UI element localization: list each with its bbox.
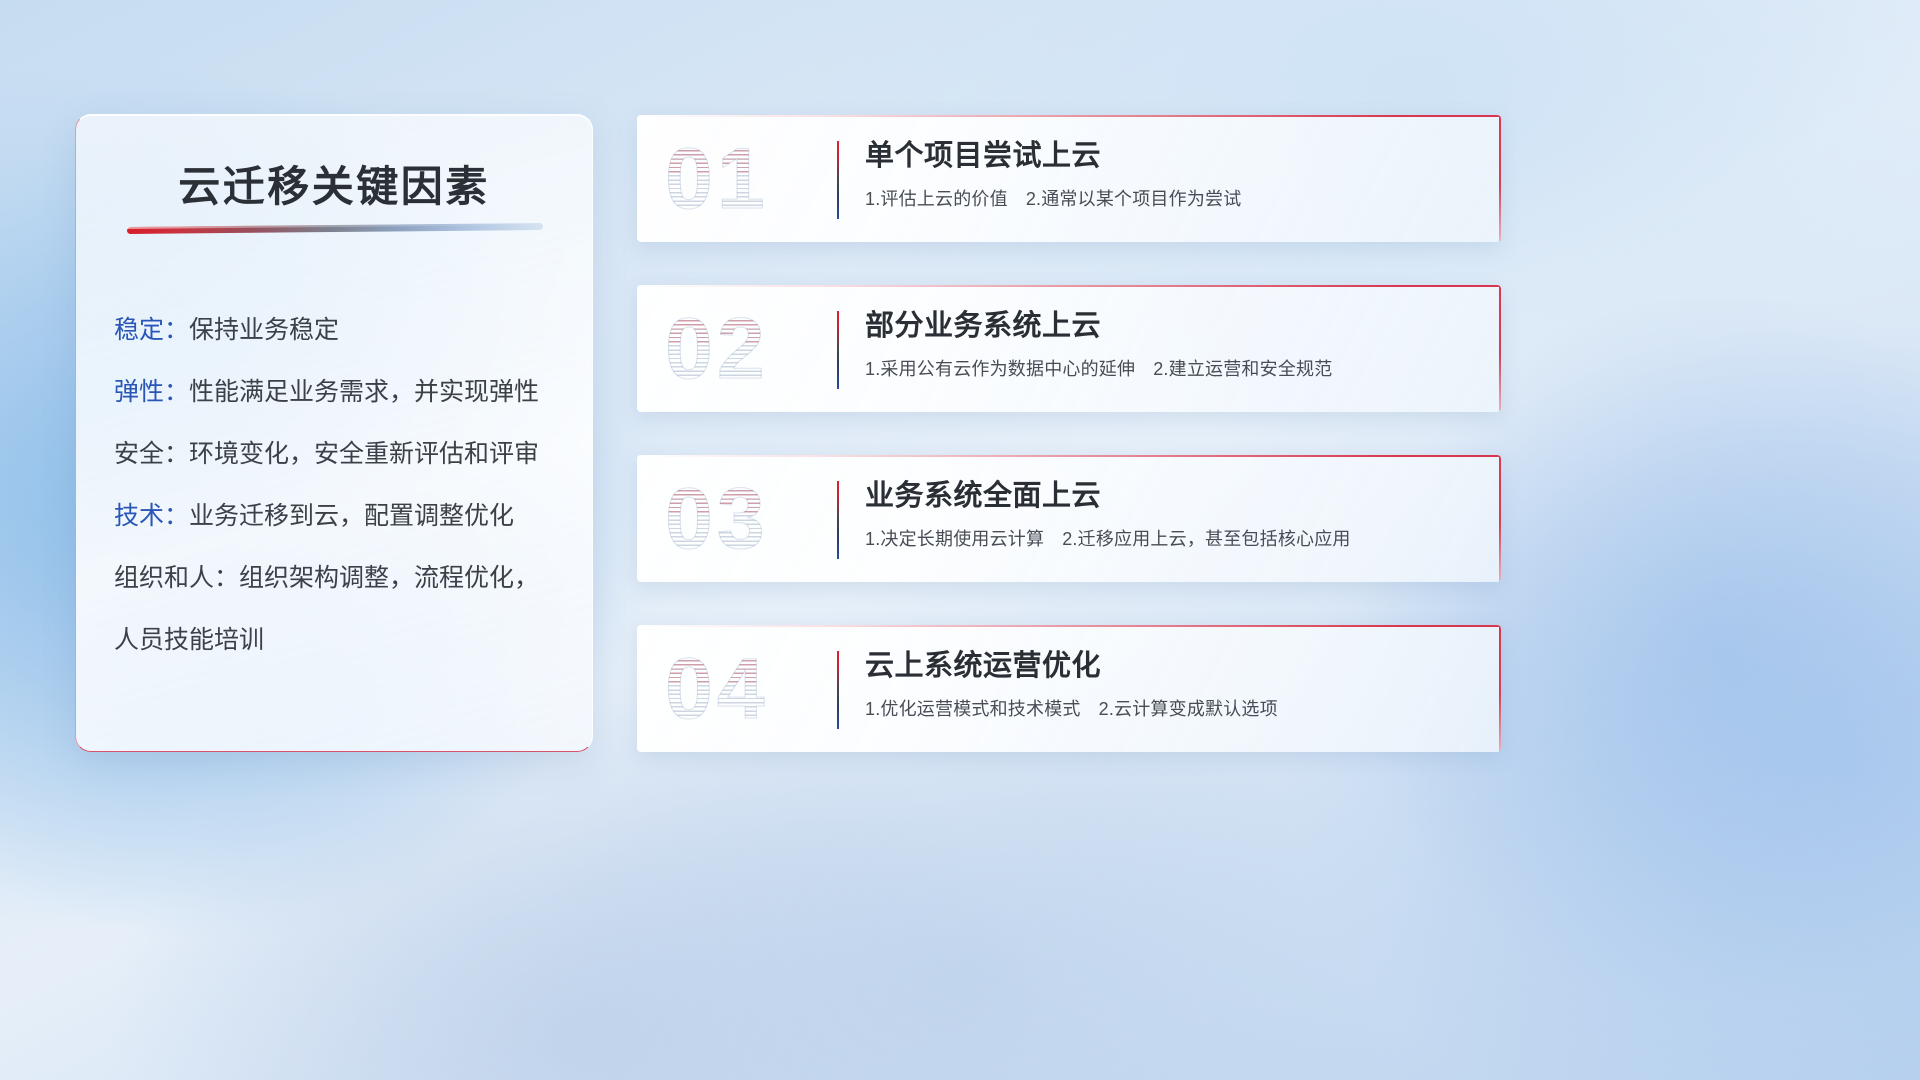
card-top-accent-line [637, 455, 1501, 457]
step-divider-bar [837, 141, 839, 219]
list-item: 组织和人：组织架构调整，流程优化， [114, 563, 556, 593]
step-subtitle: 1.评估上云的价值2.通常以某个项目作为尝试 [865, 187, 1477, 211]
factor-key: 技术： [114, 502, 189, 530]
step-card-03[interactable]: 03 03 03 业务系统全面上云 1.决定长期使用云计算2.迁移应用上云，甚至… [637, 455, 1501, 582]
step-number-tint: 02 [665, 299, 825, 345]
step-subtitle: 1.决定长期使用云计算2.迁移应用上云，甚至包括核心应用 [865, 527, 1477, 551]
card-right-accent-line [1499, 115, 1501, 242]
list-item: 稳定：保持业务稳定 [114, 315, 556, 345]
step-content: 部分业务系统上云 1.采用公有云作为数据中心的延伸2.建立运营和安全规范 [865, 307, 1477, 381]
factor-value-continued: 人员技能培训 [114, 626, 264, 654]
step-card-01[interactable]: 01 01 01 单个项目尝试上云 1.评估上云的价值2.通常以某个项目作为尝试 [637, 115, 1501, 242]
step-card-04[interactable]: 04 04 04 云上系统运营优化 1.优化运营模式和技术模式2.云计算变成默认… [637, 625, 1501, 752]
list-item: 安全：环境变化，安全重新评估和评审 [114, 439, 556, 469]
migration-steps-list: 01 01 01 单个项目尝试上云 1.评估上云的价值2.通常以某个项目作为尝试… [637, 115, 1501, 795]
card-right-accent-line [1499, 455, 1501, 582]
list-item: 弹性：性能满足业务需求，并实现弹性 [114, 377, 556, 407]
step-subtitle-part-a: 1.采用公有云作为数据中心的延伸 [865, 359, 1135, 379]
factor-key: 稳定： [114, 316, 189, 344]
list-item-continuation: 人员技能培训 [114, 625, 556, 655]
step-subtitle-part-b: 2.通常以某个项目作为尝试 [1026, 189, 1242, 209]
factor-key: 弹性： [114, 378, 189, 406]
card-right-accent-line [1499, 285, 1501, 412]
card-top-accent-line [637, 115, 1501, 117]
card-left-highlight [637, 625, 638, 752]
step-subtitle-part-a: 1.优化运营模式和技术模式 [865, 699, 1081, 719]
step-subtitle-part-a: 1.评估上云的价值 [865, 189, 1008, 209]
card-left-highlight [637, 455, 638, 582]
step-number-tint: 03 [665, 469, 825, 515]
step-divider-bar [837, 481, 839, 559]
card-left-highlight [637, 115, 638, 242]
card-top-accent-line [637, 625, 1501, 627]
factor-value: 环境变化，安全重新评估和评审 [189, 440, 539, 468]
factor-value: 保持业务稳定 [189, 316, 339, 344]
page-title: 云迁移关键因素 [76, 153, 592, 214]
step-subtitle: 1.采用公有云作为数据中心的延伸2.建立运营和安全规范 [865, 357, 1477, 381]
list-item: 技术：业务迁移到云，配置调整优化 [114, 501, 556, 531]
step-subtitle-part-b: 2.建立运营和安全规范 [1153, 359, 1332, 379]
card-top-accent-line [637, 285, 1501, 287]
factor-value: 业务迁移到云，配置调整优化 [189, 502, 514, 530]
step-number-tint: 04 [665, 639, 825, 685]
step-subtitle-part-a: 1.决定长期使用云计算 [865, 529, 1044, 549]
key-factors-list: 稳定：保持业务稳定 弹性：性能满足业务需求，并实现弹性 安全：环境变化，安全重新… [76, 315, 592, 655]
step-subtitle-part-b: 2.迁移应用上云，甚至包括核心应用 [1062, 529, 1350, 549]
factor-value: 性能满足业务需求，并实现弹性 [189, 378, 539, 406]
step-title: 云上系统运营优化 [865, 647, 1477, 685]
step-title: 单个项目尝试上云 [865, 137, 1477, 175]
title-underline-gradient [127, 223, 543, 234]
step-card-02[interactable]: 02 02 02 部分业务系统上云 1.采用公有云作为数据中心的延伸2.建立运营… [637, 285, 1501, 412]
step-content: 业务系统全面上云 1.决定长期使用云计算2.迁移应用上云，甚至包括核心应用 [865, 477, 1477, 551]
card-right-accent-line [1499, 625, 1501, 752]
step-subtitle: 1.优化运营模式和技术模式2.云计算变成默认选项 [865, 697, 1477, 721]
slide-canvas: 云迁移关键因素 稳定：保持业务稳定 弹性：性能满足业务需求，并实现弹性 安全：环… [0, 0, 1920, 1080]
step-number-tint: 01 [665, 129, 825, 175]
step-divider-bar [837, 311, 839, 389]
card-left-highlight [637, 285, 638, 412]
factor-value: 组织架构调整，流程优化， [239, 564, 539, 592]
step-content: 单个项目尝试上云 1.评估上云的价值2.通常以某个项目作为尝试 [865, 137, 1477, 211]
step-content: 云上系统运营优化 1.优化运营模式和技术模式2.云计算变成默认选项 [865, 647, 1477, 721]
factor-key: 组织和人： [114, 564, 239, 592]
step-title: 部分业务系统上云 [865, 307, 1477, 345]
factor-key: 安全： [114, 440, 189, 468]
step-divider-bar [837, 651, 839, 729]
key-factors-panel: 云迁移关键因素 稳定：保持业务稳定 弹性：性能满足业务需求，并实现弹性 安全：环… [75, 114, 593, 752]
step-subtitle-part-b: 2.云计算变成默认选项 [1099, 699, 1278, 719]
step-title: 业务系统全面上云 [865, 477, 1477, 515]
